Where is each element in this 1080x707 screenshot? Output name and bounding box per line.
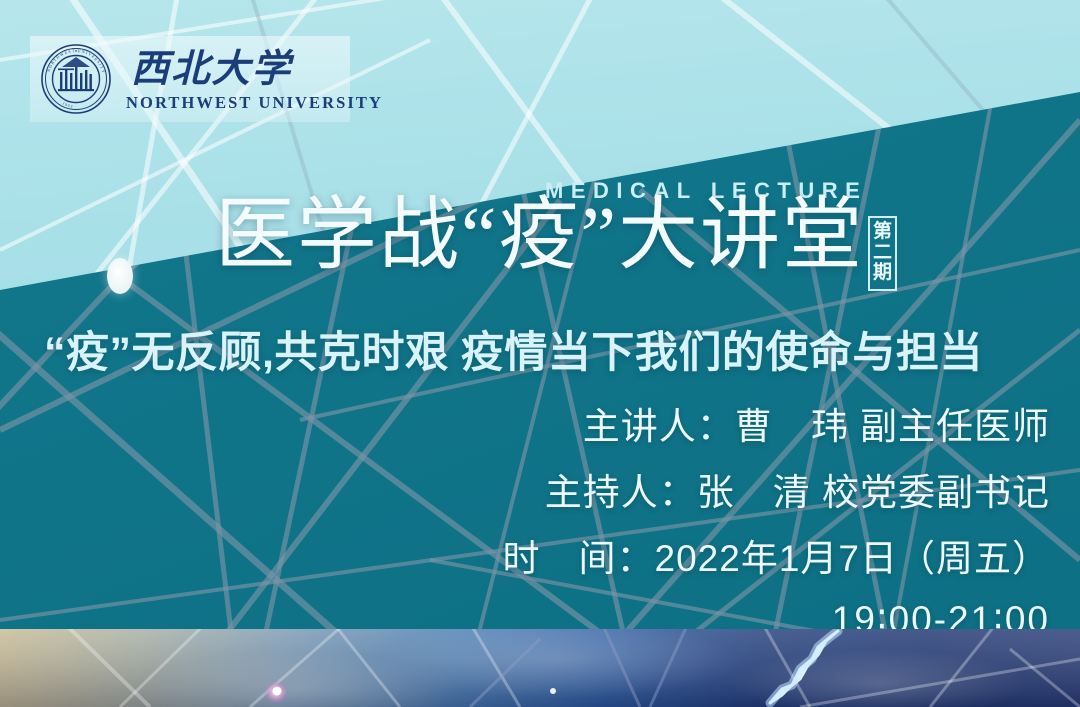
svg-text:西北大学: 西北大学 xyxy=(131,47,295,90)
episode-badge: 第 二 期 xyxy=(868,216,897,291)
episode-badge-char-1: 第 xyxy=(873,222,892,243)
logo-english-name: NORTHWEST UNIVERSITY xyxy=(126,93,383,113)
details-block: 主讲人：曹 玮 副主任医师 主持人：张 清 校党委副书记 时 间：2022年1月… xyxy=(503,396,1050,641)
university-logo: ★ NORTHWEST UNIVERSITY · 1902 · 西北大学 NOR… xyxy=(30,36,350,122)
university-seal-icon: ★ NORTHWEST UNIVERSITY · 1902 · xyxy=(40,43,112,115)
lecture-poster: ★ NORTHWEST UNIVERSITY · 1902 · 西北大学 NOR… xyxy=(0,0,1080,707)
title-row: 医学战“疫”大讲堂 第 二 期 xyxy=(215,196,897,291)
glow-dot-mid xyxy=(550,688,556,694)
network-node-dot xyxy=(107,258,133,294)
page-title: 医学战“疫”大讲堂 xyxy=(215,196,864,276)
episode-badge-char-2: 二 xyxy=(873,243,892,264)
logo-chinese-name: 西北大学 xyxy=(126,46,358,92)
speaker-line: 主讲人：曹 玮 副主任医师 xyxy=(583,396,1050,450)
date-line: 时 间：2022年1月7日（周五） xyxy=(503,528,1050,582)
subtitle: “疫”无反顾,共克时艰 疫情当下我们的使命与担当 xyxy=(44,318,1044,380)
host-line: 主持人：张 清 校党委副书记 xyxy=(545,462,1050,516)
episode-badge-char-3: 期 xyxy=(873,263,892,284)
bottom-photo-strip xyxy=(0,629,1080,707)
